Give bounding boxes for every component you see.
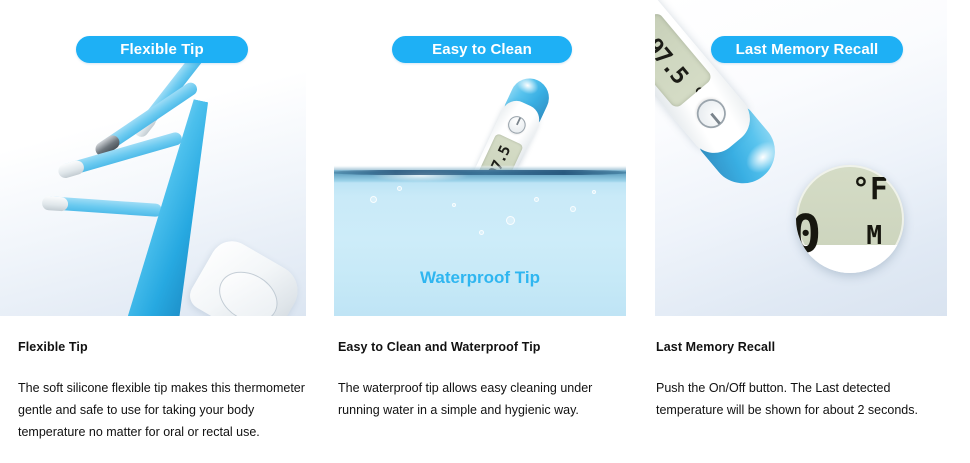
feature-description: Push the On/Off button. The Last detecte… [656, 377, 952, 421]
magnified-unit-label: °F [852, 175, 888, 205]
badge-easy-to-clean: Easy to Clean [392, 36, 572, 63]
feature-description: The waterproof tip allows easy cleaning … [338, 377, 634, 421]
feature-text-easy-to-clean: Easy to Clean and Waterproof Tip The wat… [338, 330, 634, 421]
bubble-icon [479, 230, 484, 235]
feature-panel-flexible-tip: Flexible Tip [0, 0, 306, 316]
badge-last-memory-recall: Last Memory Recall [711, 36, 903, 63]
feature-heading: Last Memory Recall [656, 340, 952, 354]
feature-panel-easy-to-clean: 97.5 °F Waterproof Tip Easy to Clean [334, 0, 626, 316]
bubble-icon [506, 216, 515, 225]
thermometer-handle [185, 233, 306, 316]
bubble-icon [592, 190, 596, 194]
feature-text-last-memory-recall: Last Memory Recall Push the On/Off butto… [656, 330, 952, 421]
product-feature-banner: Flexible Tip 97.5 °F [0, 0, 970, 463]
bubble-icon [370, 196, 377, 203]
bubble-icon [534, 197, 539, 202]
magnifier-zoom-circle: 0 °F M [796, 165, 904, 273]
waterproof-tip-caption: Waterproof Tip [334, 268, 626, 288]
flex-tip-bend-4 [44, 196, 163, 217]
power-button-icon [505, 113, 528, 136]
feature-text-row: Flexible Tip The soft silicone flexible … [0, 330, 970, 463]
water-body [334, 170, 626, 316]
feature-text-flexible-tip: Flexible Tip The soft silicone flexible … [18, 330, 314, 443]
bubble-icon [452, 203, 456, 207]
feature-heading: Easy to Clean and Waterproof Tip [338, 340, 634, 354]
badge-flexible-tip: Flexible Tip [76, 36, 248, 63]
feature-image-row: Flexible Tip 97.5 °F [0, 0, 970, 318]
bubble-icon [397, 186, 402, 191]
power-button-icon [691, 93, 732, 134]
lcd-reading: 97.5 °F M [655, 33, 693, 88]
feature-panel-last-memory-recall: 97.5 °F M 0 °F M Last Memory Recall [655, 0, 947, 316]
bubble-icon [570, 206, 576, 212]
water-surface-line [334, 170, 626, 175]
magnified-memory-flag: M [866, 223, 882, 249]
feature-heading: Flexible Tip [18, 340, 314, 354]
magnified-digit: 0 [796, 209, 821, 261]
feature-description: The soft silicone flexible tip makes thi… [18, 377, 314, 443]
